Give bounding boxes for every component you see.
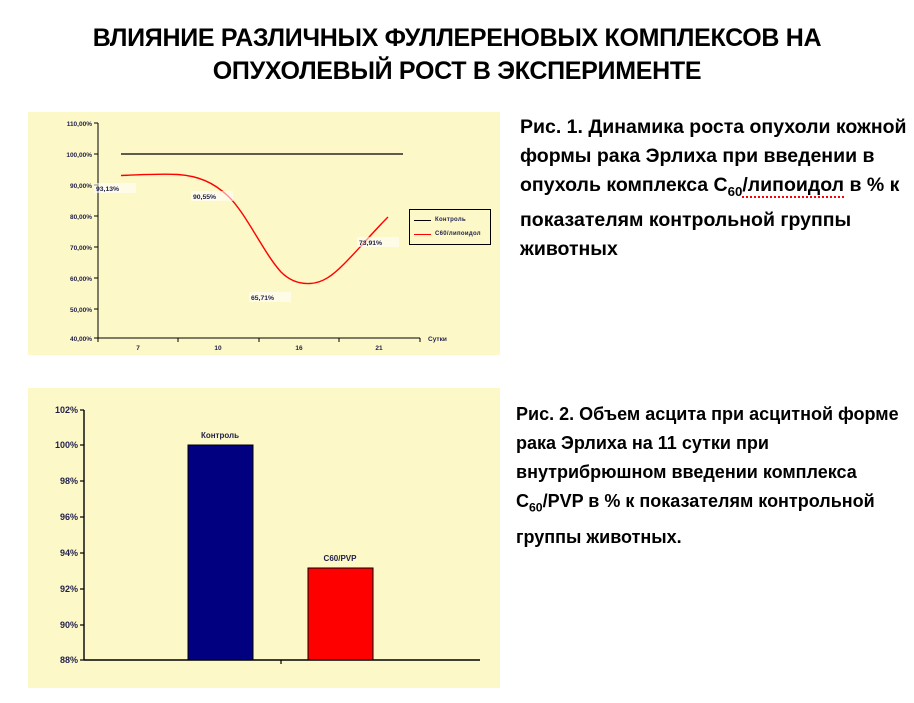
x-tick-label: 7	[136, 345, 140, 352]
data-label: 73,91%	[359, 240, 382, 247]
bar-label-c60-pvp: С60/PVP	[324, 554, 358, 563]
data-label: 93,13%	[96, 186, 119, 193]
y-tick-label: 94%	[60, 548, 78, 558]
line-chart-axes	[94, 123, 420, 342]
legend-line-icon	[414, 234, 431, 235]
figure-1-caption: Рис. 1. Динамика роста опухоли кожной фо…	[520, 113, 912, 264]
y-tick-label: 92%	[60, 584, 78, 594]
y-tick-label: 110,00%	[67, 121, 93, 128]
x-axis-title: Сутки	[428, 336, 447, 343]
x-tick-label: 10	[214, 345, 222, 352]
y-tick-label: 70,00%	[70, 245, 92, 252]
line-chart-y-axis: 110,00% 100,00% 90,00% 80,00% 70,00% 60,…	[66, 121, 92, 343]
y-tick-label: 100,00%	[66, 152, 92, 159]
bar-label-control: Контроль	[201, 431, 239, 440]
y-tick-label: 50,00%	[70, 307, 92, 314]
page-title: ВЛИЯНИЕ РАЗЛИЧНЫХ ФУЛЛЕРЕНОВЫХ КОМПЛЕКСО…	[40, 22, 874, 88]
legend-label: Контроль	[435, 217, 466, 223]
y-tick-label: 80,00%	[70, 214, 92, 221]
bar-control	[188, 445, 253, 660]
y-tick-label: 100%	[55, 440, 78, 450]
data-label: 65,71%	[251, 295, 274, 302]
y-tick-label: 40,00%	[70, 336, 92, 343]
x-tick-label: 16	[295, 345, 303, 352]
y-tick-label: 96%	[60, 512, 78, 522]
caption-misspelled-word: /липоидол	[742, 174, 844, 198]
series-line-c60-lipoidol	[121, 174, 388, 283]
bar-c60-pvp	[308, 568, 373, 660]
figure-2-caption: Рис. 2. Объем асцита при асцитной форме …	[516, 400, 912, 552]
line-chart-legend: Контроль С60/липоидол	[409, 209, 491, 245]
legend-item-control: Контроль	[414, 213, 486, 227]
data-label: 90,55%	[193, 194, 216, 201]
legend-line-icon	[414, 220, 431, 221]
bar-chart-axes	[80, 410, 480, 664]
y-tick-label: 90,00%	[70, 183, 92, 190]
legend-label: С60/липоидол	[435, 231, 481, 237]
line-chart-data-labels: 93,13% 90,55% 65,71% 73,91%	[94, 183, 399, 302]
figure-2-bar-chart: 102% 100% 98% 96% 94% 92% 90% 88%	[28, 388, 500, 688]
slide: ВЛИЯНИЕ РАЗЛИЧНЫХ ФУЛЛЕРЕНОВЫХ КОМПЛЕКСО…	[0, 0, 914, 703]
x-tick-label: 21	[375, 345, 383, 352]
y-tick-label: 60,00%	[70, 276, 92, 283]
bar-chart-svg: 102% 100% 98% 96% 94% 92% 90% 88%	[28, 388, 500, 688]
y-tick-label: 88%	[60, 655, 78, 665]
legend-item-c60-lipoidol: С60/липоидол	[414, 227, 486, 241]
y-tick-label: 98%	[60, 476, 78, 486]
caption-suffix: /PVP в % к показателям контрольной групп…	[516, 491, 875, 547]
y-tick-label: 102%	[55, 405, 78, 415]
caption-subscript: 60	[529, 501, 543, 515]
caption-subscript: 60	[728, 184, 743, 199]
bar-chart-y-axis: 102% 100% 98% 96% 94% 92% 90% 88%	[55, 405, 78, 665]
y-tick-label: 90%	[60, 620, 78, 630]
